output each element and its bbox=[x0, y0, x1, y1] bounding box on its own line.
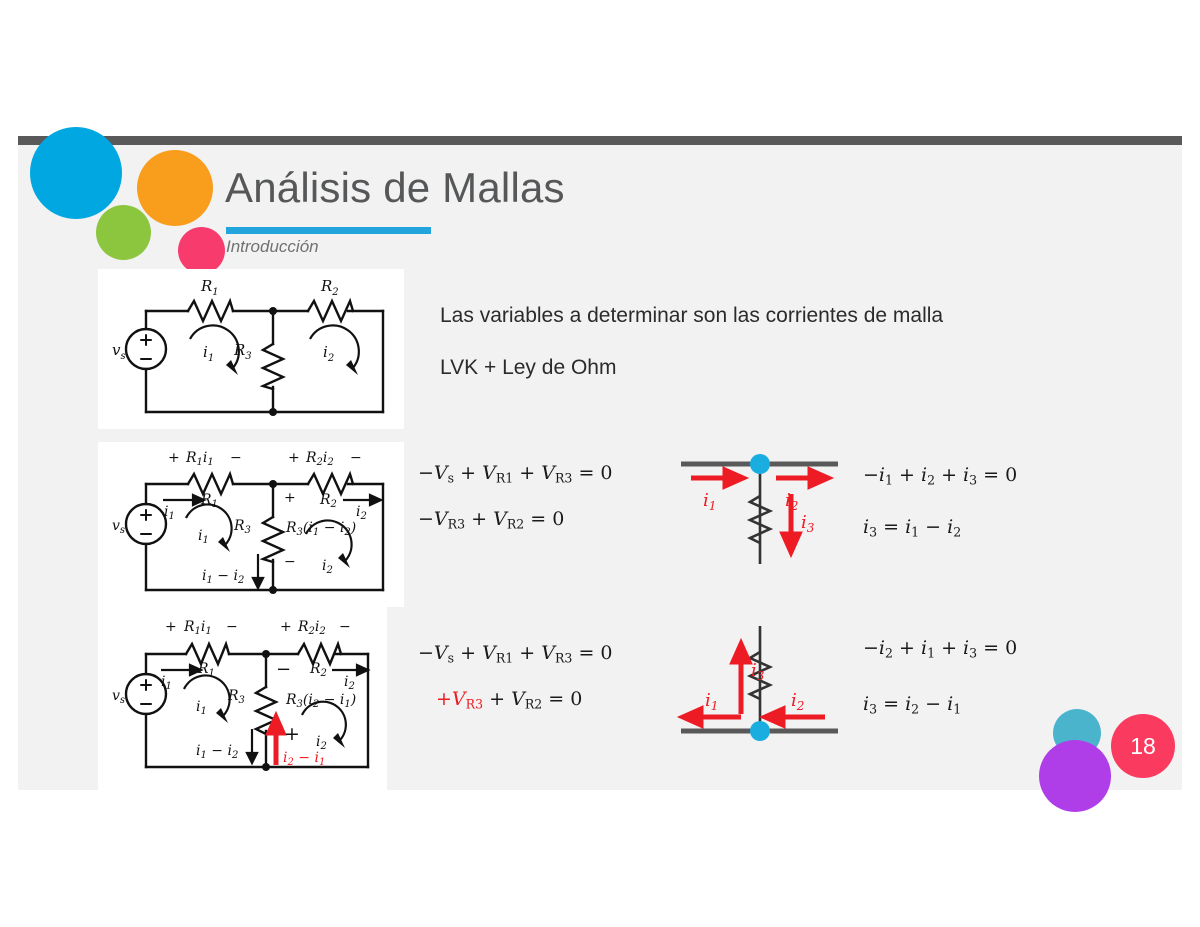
body-line-1: Las variables a determinar son las corri… bbox=[440, 304, 943, 328]
node-dot bbox=[750, 721, 770, 741]
slide-canvas: Análisis de Mallas Introducción Las vari… bbox=[18, 136, 1182, 790]
label-r2: R2 bbox=[320, 277, 339, 298]
svg-text:R1: R1 bbox=[197, 661, 215, 679]
slide-top-bar bbox=[18, 136, 1182, 145]
circuit-middle-svg: R1i1 R2i2 +− +− R1 R2 i1 i2 R3 vs i1 i2 … bbox=[98, 442, 404, 607]
svg-text:vs: vs bbox=[112, 688, 125, 706]
svg-text:−: − bbox=[276, 659, 291, 680]
circuit-bottom-svg: R1i1 R2i2 +− +− R1 R2 i1 i2 R3 vs i1 i2 … bbox=[98, 607, 387, 790]
svg-text:−: − bbox=[339, 619, 351, 635]
page-subtitle: Introducción bbox=[226, 237, 319, 257]
page-title: Análisis de Mallas bbox=[225, 164, 565, 212]
svg-text:i2: i2 bbox=[322, 558, 333, 576]
circuit-image-middle: R1i1 R2i2 +− +− R1 R2 i1 i2 R3 vs i1 i2 … bbox=[98, 442, 404, 607]
svg-text:R3: R3 bbox=[227, 688, 245, 706]
branch-current-middle: i1 − i2 bbox=[202, 568, 244, 586]
svg-text:R1: R1 bbox=[200, 492, 218, 510]
red-branch-arrow bbox=[269, 717, 283, 765]
circuit-image-top: R1 R2 R3 vs i1 i2 bbox=[98, 269, 404, 429]
svg-text:R1i1: R1i1 bbox=[183, 619, 212, 637]
eq-br-2: i3 = i2 − i1 bbox=[863, 679, 1017, 735]
svg-text:R3: R3 bbox=[233, 518, 251, 536]
node-diagram-bottom: i3 i1 i2 bbox=[673, 614, 848, 754]
branch-current-bottom-red: i2 − i1 bbox=[283, 750, 325, 768]
eq-mr-1: −i1 + i2 + i3 = 0 bbox=[863, 452, 1017, 504]
svg-text:i1: i1 bbox=[164, 504, 175, 522]
node-dot bbox=[750, 454, 770, 474]
svg-text:−: − bbox=[350, 450, 362, 466]
page-number-badge: 18 bbox=[1111, 714, 1175, 778]
branch-expression-middle: R3(i1 − i2) bbox=[285, 520, 356, 538]
svg-text:+: + bbox=[168, 450, 180, 466]
svg-text:i2: i2 bbox=[344, 674, 355, 692]
eq-br-1: −i2 + i1 + i3 = 0 bbox=[863, 623, 1017, 679]
eq-ml-1: −Vs + VR1 + VR3 = 0 bbox=[418, 453, 613, 499]
label-i2: i2 bbox=[323, 343, 334, 364]
svg-text:+: + bbox=[284, 490, 296, 506]
label-vs: vs bbox=[112, 341, 126, 362]
node-diagram-middle: i1 i2 i3 bbox=[673, 446, 848, 576]
equations-middle-right: −i1 + i2 + i3 = 0 i3 = i1 − i2 bbox=[863, 452, 1017, 555]
branch-current-bottom-black: i1 − i2 bbox=[196, 743, 238, 761]
svg-text:i1: i1 bbox=[196, 699, 207, 717]
svg-text:i1: i1 bbox=[161, 674, 172, 692]
eq-bl-2: +VR3 + VR2 = 0 bbox=[418, 679, 613, 725]
svg-text:−: − bbox=[284, 554, 296, 570]
label-r1: R1 bbox=[200, 277, 219, 298]
label-i1: i1 bbox=[203, 343, 214, 364]
svg-text:R2: R2 bbox=[319, 492, 337, 510]
svg-text:R1i1: R1i1 bbox=[185, 450, 214, 468]
svg-text:R2i2: R2i2 bbox=[305, 450, 334, 468]
equations-bottom-right: −i2 + i1 + i3 = 0 i3 = i2 − i1 bbox=[863, 623, 1017, 734]
decor-circle-pink bbox=[178, 227, 225, 274]
node-bot-label-i1: i1 bbox=[705, 690, 718, 713]
node-mid-label-i2: i2 bbox=[785, 490, 798, 513]
circuit-top-svg: R1 R2 R3 vs i1 i2 bbox=[98, 269, 404, 429]
decor-circle-orange bbox=[137, 150, 213, 226]
node-mid-label-i3: i3 bbox=[801, 512, 815, 535]
svg-text:R2: R2 bbox=[309, 661, 327, 679]
node-middle-svg: i1 i2 i3 bbox=[673, 446, 848, 571]
node-bot-label-i2: i2 bbox=[791, 690, 804, 713]
eq-bl-2-red-term: +VR3 bbox=[436, 688, 483, 710]
svg-text:+: + bbox=[280, 619, 292, 635]
svg-text:+: + bbox=[284, 723, 300, 745]
eq-bl-1: −Vs + VR1 + VR3 = 0 bbox=[418, 633, 613, 679]
label-r3: R3 bbox=[233, 341, 252, 362]
decor-circle-green bbox=[96, 205, 151, 260]
node-mid-label-i1: i1 bbox=[703, 490, 716, 513]
svg-text:−: − bbox=[226, 619, 238, 635]
title-underline bbox=[226, 227, 431, 234]
svg-text:R2i2: R2i2 bbox=[297, 619, 326, 637]
svg-text:i2: i2 bbox=[356, 504, 367, 522]
decor-circle-blue bbox=[30, 127, 122, 219]
body-line-2: LVK + Ley de Ohm bbox=[440, 356, 616, 380]
svg-text:+: + bbox=[288, 450, 300, 466]
svg-text:−: − bbox=[230, 450, 242, 466]
equations-middle-left: −Vs + VR1 + VR3 = 0 −VR3 + VR2 = 0 bbox=[418, 453, 613, 544]
svg-text:+: + bbox=[165, 619, 177, 635]
eq-mr-2: i3 = i1 − i2 bbox=[863, 504, 1017, 556]
circuit-image-bottom: R1i1 R2i2 +− +− R1 R2 i1 i2 R3 vs i1 i2 … bbox=[98, 607, 387, 790]
svg-text:vs: vs bbox=[112, 518, 125, 536]
branch-expression-bottom: R3(i2 − i1) bbox=[285, 692, 356, 710]
node-bottom-svg: i3 i1 i2 bbox=[673, 614, 848, 749]
svg-text:i1: i1 bbox=[198, 528, 209, 546]
equations-bottom-left: −Vs + VR1 + VR3 = 0 +VR3 + VR2 = 0 bbox=[418, 633, 613, 724]
eq-ml-2: −VR3 + VR2 = 0 bbox=[418, 499, 613, 545]
decor-circle-purple bbox=[1039, 740, 1111, 812]
